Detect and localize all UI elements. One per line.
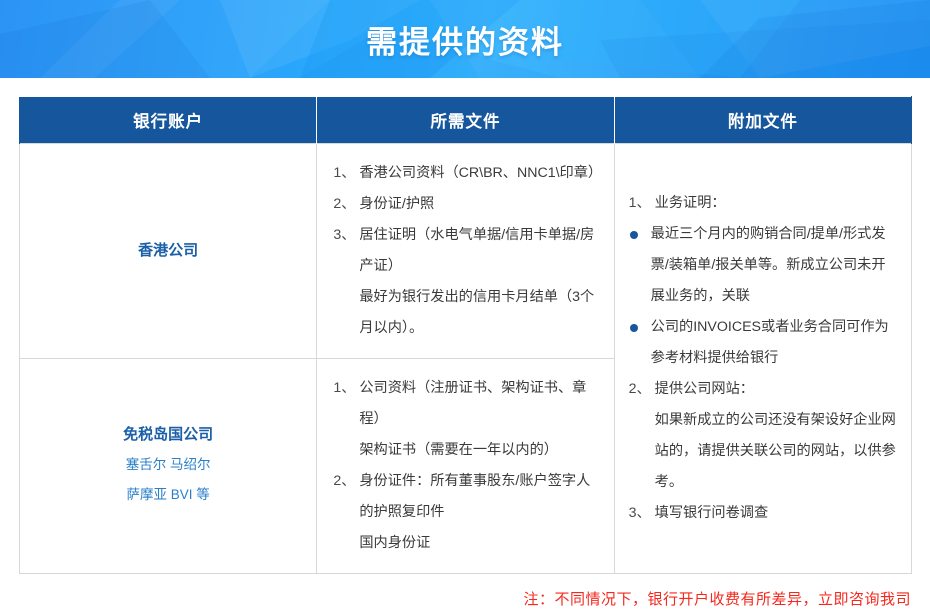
item-text: 填写银行问卷调查 [655,505,769,521]
item-text: 架构证书（需要在一年以内的） [359,442,558,458]
list-item-bullet: 公司的INVOICES或者业务合同可作为参考材料提供给银行 [629,312,897,374]
column-header-bank-account: 银行账户 [20,97,317,144]
list-item: 3、 居住证明（水电气单据/信用卡单据/房产证） [333,220,601,282]
item-text: 业务证明： [655,195,726,211]
item-text: 提供公司网站： [655,381,754,397]
item-marker: 2、 [629,374,651,405]
item-text: 身份证/护照 [359,196,434,212]
list-item: 1、 公司资料（注册证书、架构证书、章程） [333,373,601,435]
item-text: 国内身份证 [359,535,430,551]
bullet-dot-icon [630,324,638,332]
item-text: 最好为银行发出的信用卡月结单（3个月以内）。 [359,289,594,336]
category-cell-offshore: 免税岛国公司 塞舌尔 马绍尔 萨摩亚 BVI 等 [20,359,317,574]
list-item: 1、 业务证明： [629,188,897,219]
item-marker: 1、 [333,158,355,189]
list-item-bullet: 最近三个月内的购销合同/提单/形式发票/装箱单/报关单等。新成立公司未开展业务的… [629,219,897,312]
list-item: 2、 提供公司网站： [629,374,897,405]
list-item: 2、 身份证/护照 [333,189,601,220]
category-cell-hk: 香港公司 [20,144,317,359]
list-item-continuation: 架构证书（需要在一年以内的） [333,435,601,466]
item-marker: 3、 [629,498,651,529]
item-marker: 2、 [333,189,355,220]
requirements-table-wrap: 银行账户 所需文件 附加文件 香港公司 1、 香港公司资料（CR\BR、NNC1… [19,96,912,574]
table-row: 香港公司 1、 香港公司资料（CR\BR、NNC1\印章） 2、 身份证/护照 [20,144,912,359]
category-label-sub: 塞舌尔 马绍尔 [24,450,312,480]
documents-list-offshore: 1、 公司资料（注册证书、架构证书、章程） 架构证书（需要在一年以内的） 2、 … [333,373,601,559]
category-label-sub: 萨摩亚 BVI 等 [24,480,312,510]
requirements-table: 银行账户 所需文件 附加文件 香港公司 1、 香港公司资料（CR\BR、NNC1… [19,96,912,574]
additional-documents-cell: 1、 业务证明： 最近三个月内的购销合同/提单/形式发票/装箱单/报关单等。新成… [614,144,911,574]
item-text: 香港公司资料（CR\BR、NNC1\印章） [359,165,602,181]
bullet-dot-icon [630,231,638,239]
list-item: 3、 填写银行问卷调查 [629,498,897,529]
item-text: 公司资料（注册证书、架构证书、章程） [359,380,586,427]
item-marker: 2、 [333,466,355,497]
category-label-main: 免税岛国公司 [24,421,312,450]
footer-note: 注：不同情况下，银行开户收费有所差异，立即咨询我司 [0,588,911,609]
item-text: 如果新成立的公司还没有架设好企业网站的，请提供关联公司的网站，以供参考。 [655,412,896,490]
item-text: 最近三个月内的购销合同/提单/形式发票/装箱单/报关单等。新成立公司未开展业务的… [651,226,886,304]
item-text: 身份证件：所有董事股东/账户签字人的护照复印件 [359,473,590,520]
documents-list-hk: 1、 香港公司资料（CR\BR、NNC1\印章） 2、 身份证/护照 3、 居住… [333,158,601,344]
documents-cell-hk: 1、 香港公司资料（CR\BR、NNC1\印章） 2、 身份证/护照 3、 居住… [317,144,614,359]
page-title: 需提供的资料 [0,0,930,78]
additional-documents-list: 1、 业务证明： 最近三个月内的购销合同/提单/形式发票/装箱单/报关单等。新成… [629,188,897,529]
item-marker: 1、 [629,188,651,219]
list-item-continuation: 如果新成立的公司还没有架设好企业网站的，请提供关联公司的网站，以供参考。 [629,405,897,498]
list-item-continuation: 最好为银行发出的信用卡月结单（3个月以内）。 [333,282,601,344]
column-header-required-documents: 所需文件 [317,97,614,144]
column-header-additional-documents: 附加文件 [614,97,911,144]
category-label-main: 香港公司 [24,237,312,266]
table-header-row: 银行账户 所需文件 附加文件 [20,97,912,144]
item-marker: 1、 [333,373,355,404]
item-marker: 3、 [333,220,355,251]
item-text: 公司的INVOICES或者业务合同可作为参考材料提供给银行 [651,319,889,366]
list-item-continuation: 国内身份证 [333,528,601,559]
page-banner: 需提供的资料 [0,0,930,78]
list-item: 1、 香港公司资料（CR\BR、NNC1\印章） [333,158,601,189]
item-text: 居住证明（水电气单据/信用卡单据/房产证） [359,227,594,274]
documents-cell-offshore: 1、 公司资料（注册证书、架构证书、章程） 架构证书（需要在一年以内的） 2、 … [317,359,614,574]
list-item: 2、 身份证件：所有董事股东/账户签字人的护照复印件 [333,466,601,528]
